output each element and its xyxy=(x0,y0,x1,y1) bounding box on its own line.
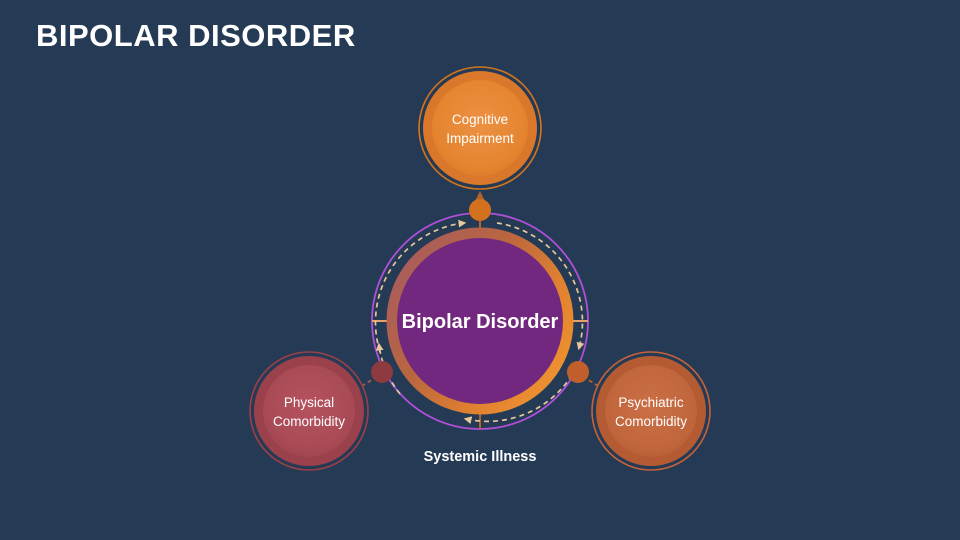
center-node-bipolar-disorder[interactable]: Bipolar Disorder xyxy=(392,233,568,409)
physical-label-line1: Physical xyxy=(284,395,334,410)
left-connector-node[interactable] xyxy=(371,361,393,383)
cognitive-label-line2: Impairment xyxy=(446,131,514,146)
right-connector-node[interactable] xyxy=(567,361,589,383)
bipolar-disorder-diagram: Cognitive Impairment Physical Comorbidit… xyxy=(0,0,960,540)
satellite-psychiatric-comorbidity[interactable]: Psychiatric Comorbidity xyxy=(592,352,710,470)
physical-inner-disc xyxy=(263,365,355,457)
physical-label-line2: Comorbidity xyxy=(273,414,345,429)
caption-systemic-illness: Systemic Illness xyxy=(424,449,537,465)
cognitive-inner-disc xyxy=(432,80,528,176)
center-label: Bipolar Disorder xyxy=(402,311,559,333)
satellite-cognitive-impairment[interactable]: Cognitive Impairment xyxy=(419,67,541,189)
psychiatric-label-line1: Psychiatric xyxy=(618,395,684,410)
psychiatric-label-line2: Comorbidity xyxy=(615,414,687,429)
slide-canvas: BIPOLAR DISORDER xyxy=(0,0,960,540)
psychiatric-inner-disc xyxy=(605,365,697,457)
top-connector-node[interactable] xyxy=(469,199,491,221)
satellite-physical-comorbidity[interactable]: Physical Comorbidity xyxy=(250,352,368,470)
cognitive-label-line1: Cognitive xyxy=(452,112,508,127)
